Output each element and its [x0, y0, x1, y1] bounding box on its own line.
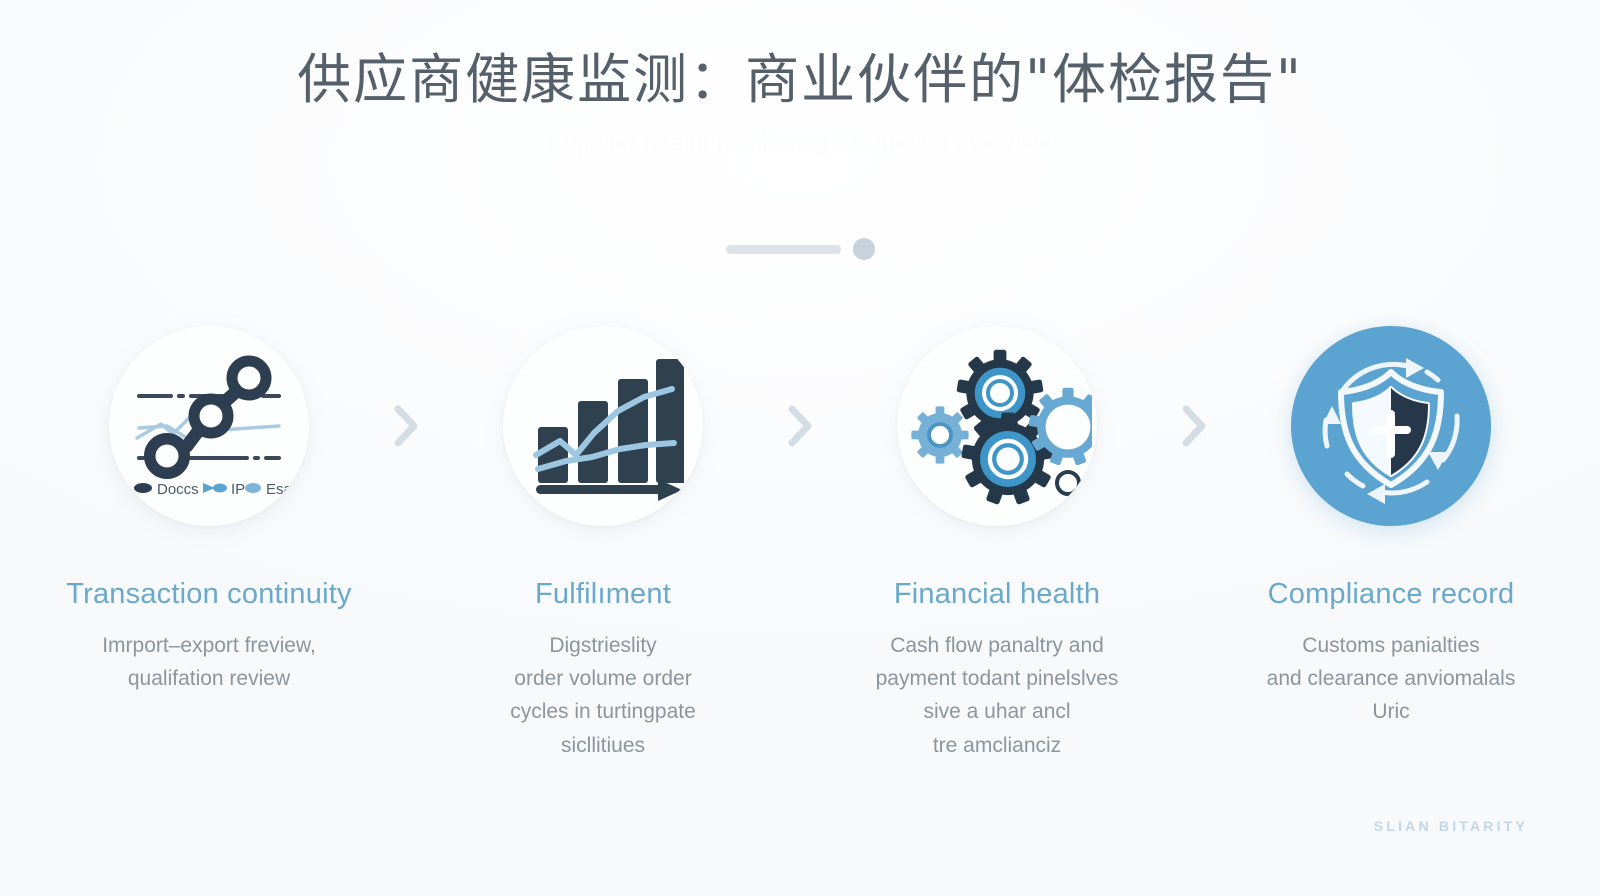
feature-card-row: Doccs IP Esay Transaction continuity Imr… [0, 326, 1600, 762]
slide-root: 供应商健康监测：商业伙伴的"体检报告" Supplier health moni… [0, 0, 1600, 896]
card-title-financial-health: Financial health [894, 578, 1100, 611]
chevron-right-icon [1179, 403, 1209, 449]
icon-circle-financial-health [897, 326, 1097, 526]
card-title-fulfillment: Fulfilıment [535, 578, 671, 611]
icon-circle-transaction-continuity: Doccs IP Esay [109, 326, 309, 526]
icon-legend: Doccs IP Esay [134, 481, 293, 498]
svg-text:IP: IP [231, 481, 245, 498]
card-financial-health[interactable]: Financial health Cash flow panaltry and … [832, 326, 1162, 762]
card-title-transaction-continuity: Transaction continuity [66, 578, 351, 611]
separator-chevron-1 [374, 326, 438, 526]
progress-indicator[interactable] [0, 238, 1600, 260]
bar-chart-trend-icon [522, 345, 684, 507]
line-chart-nodes-icon: Doccs IP Esay [125, 342, 293, 510]
watermark: SLIAN BITARITY [1374, 818, 1528, 834]
svg-text:Doccs: Doccs [157, 481, 199, 498]
shield-refresh-icon [1307, 342, 1475, 510]
header: 供应商健康监测：商业伙伴的"体检报告" Supplier health moni… [0, 48, 1600, 159]
icon-circle-compliance-record [1291, 326, 1491, 526]
page-subtitle: Supplier health monitoring dashboard ove… [350, 126, 1250, 159]
progress-knob[interactable] [853, 238, 875, 260]
card-compliance-record[interactable]: Compliance record Customs panialties and… [1226, 326, 1556, 729]
separator-chevron-3 [1162, 326, 1226, 526]
card-fulfillment[interactable]: Fulfilıment Digstrieslity order volume o… [438, 326, 768, 762]
svg-text:Esay: Esay [266, 481, 293, 498]
card-transaction-continuity[interactable]: Doccs IP Esay Transaction continuity Imr… [44, 326, 374, 695]
card-desc-financial-health: Cash flow panaltry and payment todant pi… [847, 629, 1147, 762]
progress-track[interactable] [726, 245, 841, 254]
chevron-right-icon [391, 403, 421, 449]
card-desc-transaction-continuity: Imrport–export freview, qualifation revi… [59, 629, 359, 695]
separator-chevron-2 [768, 326, 832, 526]
card-desc-fulfillment: Digstrieslity order volume order cycles … [453, 629, 753, 762]
chevron-right-icon [785, 403, 815, 449]
card-title-compliance-record: Compliance record [1268, 578, 1515, 611]
icon-circle-fulfillment [503, 326, 703, 526]
card-desc-compliance-record: Customs panialties and clearance anvioma… [1241, 629, 1541, 729]
page-title: 供应商健康监测：商业伙伴的"体检报告" [0, 48, 1600, 112]
search-mark-icon [1057, 472, 1084, 500]
gears-icon [902, 331, 1092, 521]
